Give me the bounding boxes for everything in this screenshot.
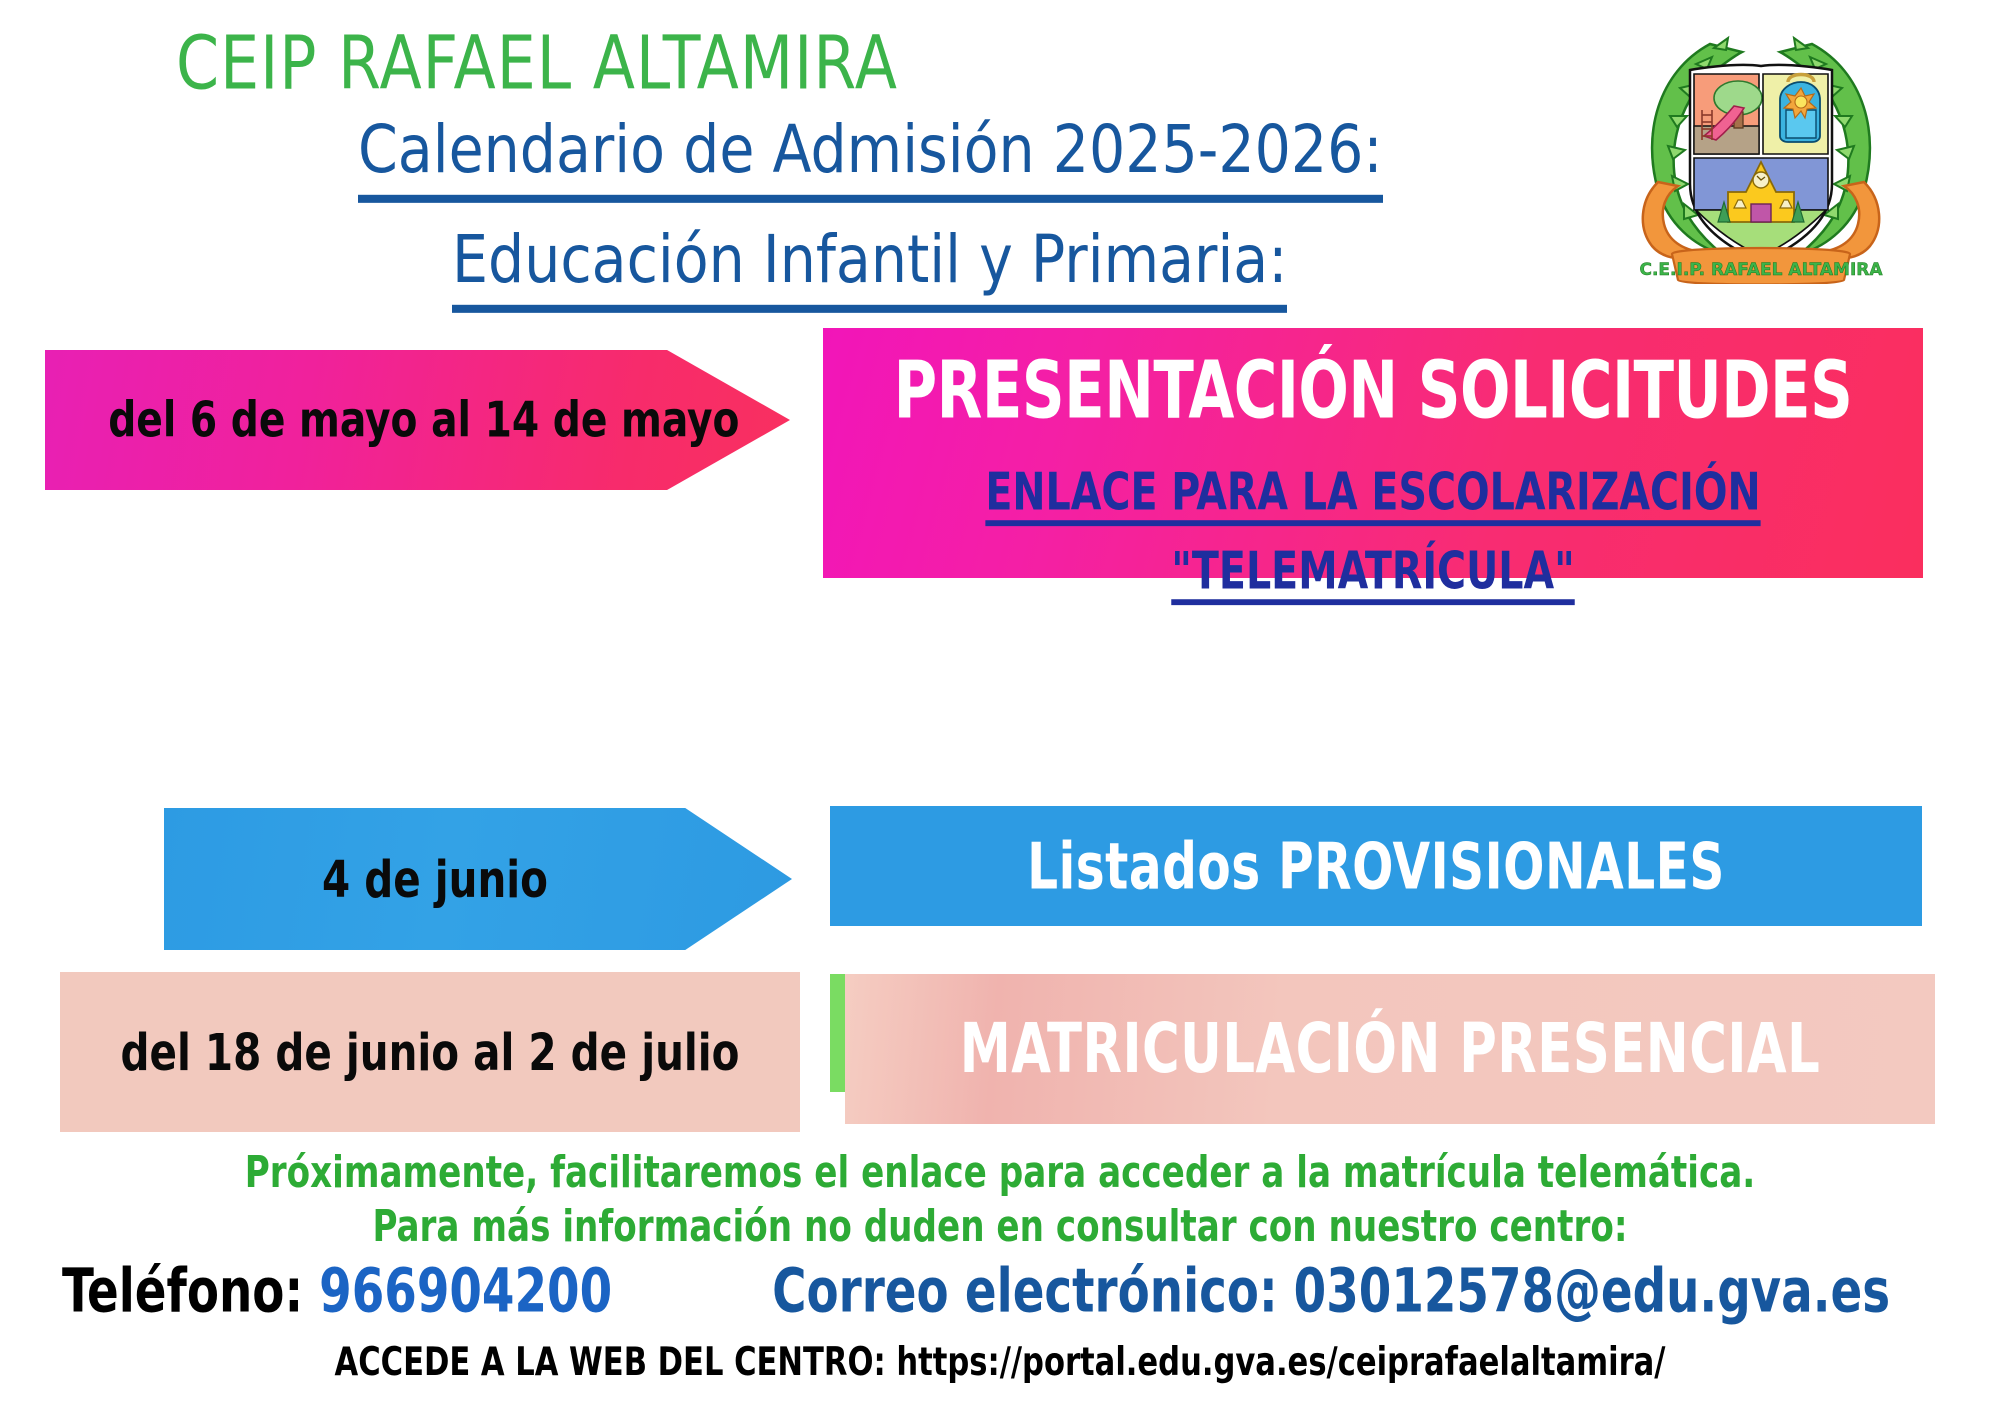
phone-value[interactable]: 966904200 [319,1257,612,1327]
date-arrow-presentacion: del 6 de mayo al 14 de mayo [45,350,790,490]
page-title: CEIP RAFAEL ALTAMIRA [176,20,898,106]
crest-banner-text: C.E.I.P. RAFAEL ALTAMIRA [1639,260,1883,280]
date-label-matriculacion: del 18 de junio al 2 de julio [121,1022,740,1081]
stage-block-matriculacion: MATRICULACIÓN PRESENCIAL [845,974,1935,1124]
footer-contact-row: Teléfono: 966904200 Correo electrónico: … [0,1257,2000,1327]
phone-group: Teléfono: 966904200 [62,1257,612,1327]
date-label-provisionales: 4 de junio [322,849,548,908]
subtitle-education-stage-text: Educación Infantil y Primaria: [452,222,1287,313]
stage-title-matriculacion: MATRICULACIÓN PRESENCIAL [960,1009,1821,1088]
phone-label: Teléfono: [62,1257,303,1327]
telematricula-link-line-2[interactable]: "TELEMATRÍCULA" [1171,541,1574,601]
telematricula-link-line-1[interactable]: ENLACE PARA LA ESCOLARIZACIÓN [985,462,1760,522]
subtitle-education-stage: Educación Infantil y Primaria: [452,222,1287,298]
footer-note-line-1: Próximamente, facilitaremos el enlace pa… [0,1147,2000,1197]
date-arrow-provisionales: 4 de junio [164,808,792,950]
subtitle-calendar-year: Calendario de Admisión 2025-2026: [358,112,1383,188]
footer-website-line[interactable]: ACCEDE A LA WEB DEL CENTRO: https://port… [0,1339,2000,1385]
stage-title-provisionales: Listados PROVISIONALES [1027,829,1725,903]
poster-header: CEIP RAFAEL ALTAMIRA Calendario de Admis… [0,0,2000,310]
date-label-presentacion: del 6 de mayo al 14 de mayo [108,391,739,448]
subtitle-calendar-year-text: Calendario de Admisión 2025-2026: [358,112,1383,203]
stage-block-provisionales: Listados PROVISIONALES [830,806,1922,926]
email-value[interactable]: 03012578@edu.gva.es [1294,1257,1890,1327]
date-block-matriculacion: del 18 de junio al 2 de julio [60,972,800,1132]
email-label: Correo electrónico: [772,1257,1278,1327]
footer-note-line-2: Para más información no duden en consult… [0,1201,2000,1251]
poster-footer: Próximamente, facilitaremos el enlace pa… [0,1150,2000,1414]
email-group: Correo electrónico: 03012578@edu.gva.es [772,1257,1890,1327]
stage-block-presentacion: PRESENTACIÓN SOLICITUDES ENLACE PARA LA … [823,328,1923,578]
school-crest-logo: C.E.I.P. RAFAEL ALTAMIRA [1638,14,1884,284]
stage-title-presentacion: PRESENTACIÓN SOLICITUDES [894,344,1853,436]
